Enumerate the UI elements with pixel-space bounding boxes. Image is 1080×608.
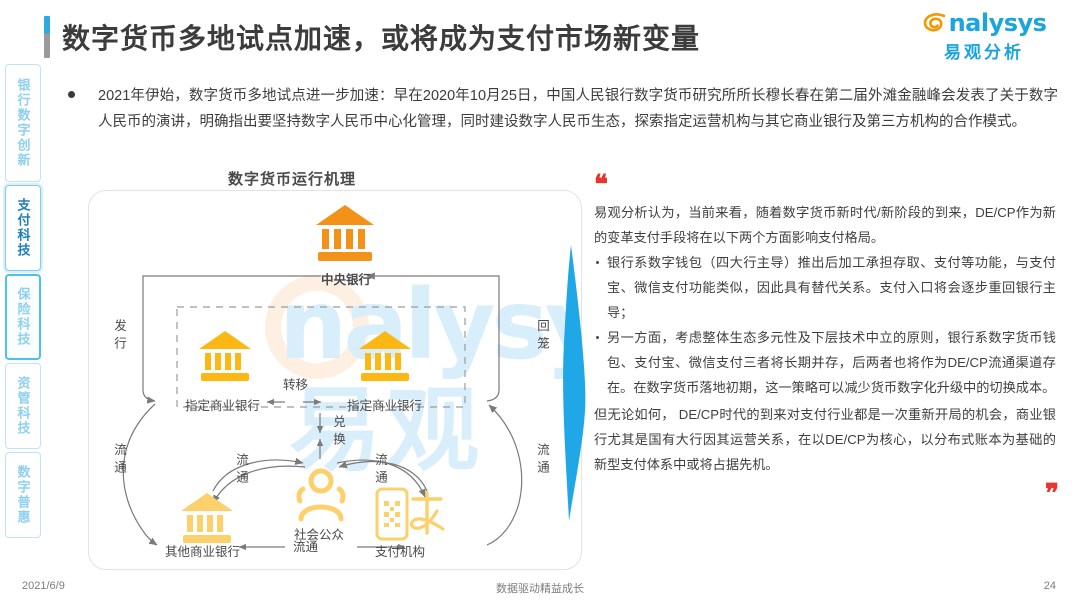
commentary-closing: 但无论如何， DE/CP时代的到来对支付行业都是一次重新开局的机会，商业银行尤其… <box>594 402 1056 477</box>
logo-wordmark: nalysys <box>949 10 1047 36</box>
sidebar-item-label: 支付科技 <box>15 198 32 258</box>
sidebar-item-label: 保险科技 <box>15 287 32 347</box>
node-label-designated-bank-right: 指定商业银行 <box>347 395 422 414</box>
node-label-designated-bank-left: 指定商业银行 <box>185 395 260 414</box>
designated-bank-right-icon <box>357 329 413 388</box>
edge-label-withdraw: 回笼 <box>533 319 552 354</box>
sidebar-item-banking-digital-innovation[interactable]: 银行数字创新 <box>5 64 41 182</box>
sidebar-item-payment-tech[interactable]: 支付科技 <box>5 185 41 271</box>
sidebar-item-asset-management-tech[interactable]: 资管科技 <box>5 363 41 449</box>
list-item: 银行系数字钱包（四大行主导）推出后加工承担存取、支付等功能，与支付宝、微信支付功… <box>594 250 1056 325</box>
footer: 2021/6/9 数据驱动精益成长 24 <box>0 580 1080 598</box>
body-paragraph: 2021年伊始，数字货币多地试点进一步加速：早在2020年10月25日，中国人民… <box>98 84 1058 135</box>
diagram-panel: nalysys 易观 <box>88 190 582 570</box>
node-label-central-bank: 中央银行 <box>321 269 371 288</box>
edge-label-issue: 发行 <box>110 319 129 354</box>
footer-page-number: 24 <box>1044 580 1056 592</box>
designated-bank-left-icon <box>197 329 253 388</box>
edge-label-circulate-public-left: 流通 <box>232 453 251 488</box>
quote-close-icon: ❞ <box>594 481 1056 507</box>
sidebar-item-label: 数字普惠 <box>15 465 32 525</box>
commentary-bullet-list: 银行系数字钱包（四大行主导）推出后加工承担存取、支付等功能，与支付宝、微信支付功… <box>594 250 1056 400</box>
body-paragraph-block: 2021年伊始，数字货币多地试点进一步加速：早在2020年10月25日，中国人民… <box>68 84 1058 135</box>
commentary-intro-wrap: 易观分析认为，当前来看，随着数字货币新时代/新阶段的到来，DE/CP作为新的变革… <box>594 200 1056 250</box>
sidebar-item-digital-inclusive-finance[interactable]: 数字普惠 <box>5 452 41 538</box>
commentary-closing-wrap: 但无论如何， DE/CP时代的到来对支付行业都是一次重新开局的机会，商业银行尤其… <box>594 402 1056 477</box>
body-bullet-icon <box>68 84 98 135</box>
logo-top-row: nalysys <box>914 10 1054 36</box>
node-label-payment-institution: 支付机构 <box>375 541 425 560</box>
sidebar-item-label: 银行数字创新 <box>15 78 32 168</box>
analysys-a-mark-icon <box>922 10 948 36</box>
quote-open-icon: ❝ <box>594 172 1056 198</box>
central-bank-icon <box>314 203 376 268</box>
public-person-icon <box>295 467 347 528</box>
list-item: 另一方面，考虑整体生态多元性及下层技术中立的原则，银行系数字货币钱包、支付宝、微… <box>594 325 1056 400</box>
commentary-block: ❝ 易观分析认为，当前来看，随着数字货币新时代/新阶段的到来，DE/CP作为新的… <box>594 172 1056 507</box>
sidebar-item-insurance-tech[interactable]: 保险科技 <box>5 274 41 360</box>
payment-institution-icon <box>375 487 447 548</box>
sidebar-item-label: 资管科技 <box>15 376 32 436</box>
edge-label-circulate-left-outer: 流通 <box>110 443 129 478</box>
body-paragraph-text: 2021年伊始，数字货币多地试点进一步加速：早在2020年10月25日，中国人民… <box>98 84 1058 135</box>
footer-slogan: 数据驱动精益成长 <box>0 580 1080 596</box>
title-accent-bar <box>44 16 50 58</box>
edge-label-circulate-public-right: 流通 <box>371 453 390 488</box>
page-title: 数字货币多地试点加速，或将成为支付市场新变量 <box>62 17 700 57</box>
analysys-logo: nalysys 易观分析 <box>914 10 1054 63</box>
edge-label-circulate-right-outer: 流通 <box>533 443 552 478</box>
slide-root: 数字货币多地试点加速，或将成为支付市场新变量 nalysys 易观分析 银行数字… <box>0 0 1080 608</box>
edge-label-exchange: 兑换 <box>329 415 348 450</box>
page-title-row: 数字货币多地试点加速，或将成为支付市场新变量 <box>44 16 700 58</box>
sidebar: 银行数字创新 支付科技 保险科技 资管科技 数字普惠 <box>5 64 41 538</box>
diagram-title: 数字货币运行机理 <box>228 168 356 189</box>
edge-label-transfer: 转移 <box>283 374 308 393</box>
blue-lens-divider-icon <box>555 243 591 528</box>
logo-chinese-name: 易观分析 <box>914 38 1054 63</box>
node-label-other-bank: 其他商业银行 <box>165 541 240 560</box>
edge-label-circulate-bottom: 流通 <box>293 536 318 555</box>
commentary-intro: 易观分析认为，当前来看，随着数字货币新时代/新阶段的到来，DE/CP作为新的变革… <box>594 200 1056 250</box>
